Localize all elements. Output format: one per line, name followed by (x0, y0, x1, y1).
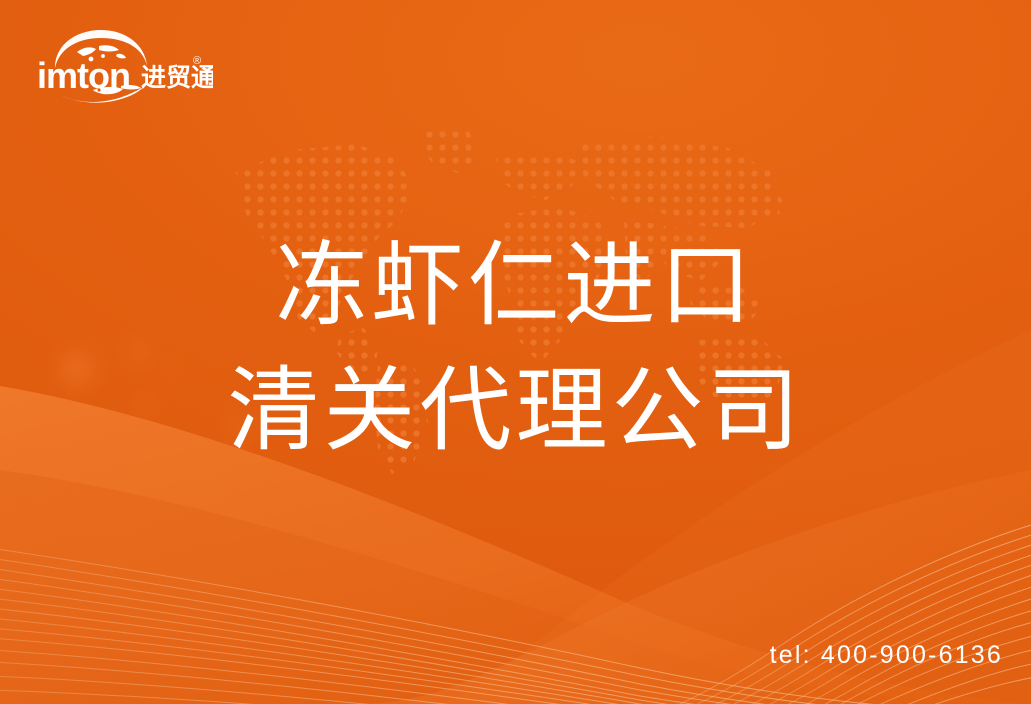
svg-text:®: ® (193, 55, 201, 67)
page-title: 冻虾仁进口 清关代理公司 (0, 234, 1031, 462)
headline-line-2: 清关代理公司 (0, 359, 1031, 462)
svg-text:进贸通: 进贸通 (141, 63, 213, 92)
contact-telephone[interactable]: tel: 400-900-6136 (770, 641, 1003, 670)
headline-line-1: 冻虾仁进口 (0, 234, 1031, 337)
imton-logo[interactable]: imton 进贸通 ® imton 进贸通 (33, 28, 213, 104)
svg-text:imton: imton (37, 55, 130, 96)
poster-canvas: imton 进贸通 ® imton 进贸通 冻虾仁进口 清关代理公司 tel: … (0, 0, 1031, 704)
